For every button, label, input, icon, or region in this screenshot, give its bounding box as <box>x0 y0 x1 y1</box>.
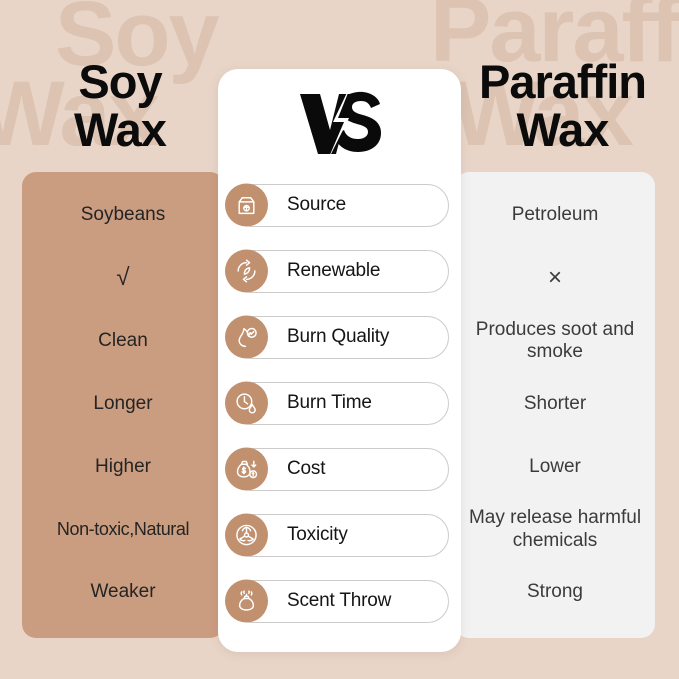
feature-pill-burn-time[interactable]: Burn Time <box>230 382 449 425</box>
feature-label-renewable: Renewable <box>287 260 380 282</box>
feature-row-source[interactable]: Source <box>230 172 449 238</box>
vs-header <box>218 69 461 172</box>
feature-pill-burn-quality[interactable]: Burn Quality <box>230 316 449 359</box>
money-bag-icon <box>225 448 268 491</box>
feature-label-source: Source <box>287 194 346 216</box>
feature-row-toxicity[interactable]: Toxicity <box>230 502 449 568</box>
vs-lightning-icon <box>292 78 388 164</box>
right-value-toxicity: May release harmful chemicals <box>461 498 649 561</box>
right-value-renewable: × <box>461 247 649 310</box>
feature-pill-cost[interactable]: Cost <box>230 448 449 491</box>
feature-rows: Source Renewable <box>218 172 461 652</box>
left-value-cost: Higher <box>28 435 218 498</box>
feature-label-burn-quality: Burn Quality <box>287 326 389 348</box>
feature-row-scent-throw[interactable]: Scent Throw <box>230 568 449 634</box>
left-title: Soy Wax <box>10 58 230 154</box>
clock-flame-icon <box>225 382 268 425</box>
feature-label-cost: Cost <box>287 458 325 480</box>
right-title-line2: Wax <box>450 106 675 154</box>
right-title-line1: Paraffin <box>450 58 675 106</box>
feature-row-burn-quality[interactable]: Burn Quality <box>230 304 449 370</box>
right-value-cost: Lower <box>461 435 649 498</box>
soy-wax-values-panel: Soybeans √ Clean Longer Higher Non-toxic… <box>22 172 224 638</box>
left-title-line1: Soy <box>10 58 230 106</box>
left-title-line2: Wax <box>10 106 230 154</box>
feature-row-renewable[interactable]: Renewable <box>230 238 449 304</box>
feature-pill-scent-throw[interactable]: Scent Throw <box>230 580 449 623</box>
feature-pill-renewable[interactable]: Renewable <box>230 250 449 293</box>
left-value-renewable: √ <box>28 247 218 310</box>
feature-label-toxicity: Toxicity <box>287 524 348 546</box>
feature-pill-toxicity[interactable]: Toxicity <box>230 514 449 557</box>
left-value-burn-quality: Clean <box>28 310 218 373</box>
feature-label-scent-throw: Scent Throw <box>287 590 391 612</box>
right-value-scent-throw: Strong <box>461 561 649 624</box>
flame-check-icon <box>225 316 268 359</box>
left-value-toxicity: Non-toxic,Natural <box>28 498 218 561</box>
paraffin-wax-values-panel: Petroleum × Produces soot and smoke Shor… <box>455 172 655 638</box>
left-value-burn-time: Longer <box>28 373 218 436</box>
comparison-feature-card: Source Renewable <box>218 69 461 652</box>
feature-label-burn-time: Burn Time <box>287 392 372 414</box>
feature-row-cost[interactable]: Cost <box>230 436 449 502</box>
feature-row-burn-time[interactable]: Burn Time <box>230 370 449 436</box>
right-value-burn-quality: Produces soot and smoke <box>461 310 649 373</box>
sack-leaf-icon <box>225 184 268 227</box>
left-value-source: Soybeans <box>28 184 218 247</box>
biohazard-icon <box>225 514 268 557</box>
right-value-burn-time: Shorter <box>461 373 649 436</box>
left-value-scent-throw: Weaker <box>28 561 218 624</box>
feature-pill-source[interactable]: Source <box>230 184 449 227</box>
right-value-source: Petroleum <box>461 184 649 247</box>
recycle-leaf-icon <box>225 250 268 293</box>
scent-pouch-icon <box>225 580 268 623</box>
right-title: Paraffin Wax <box>450 58 675 154</box>
